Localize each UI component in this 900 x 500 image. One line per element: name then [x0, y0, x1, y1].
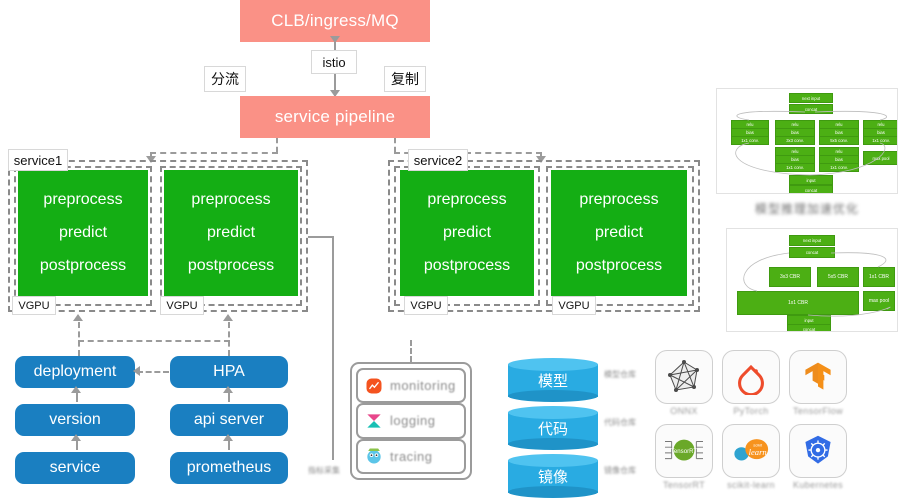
framework-tile-kubernetes[interactable] [789, 424, 847, 478]
vgpu-chip-1-1: VGPU [12, 296, 56, 315]
nn-edges-before [717, 89, 898, 194]
connector-prometheus-apiserver [228, 440, 230, 450]
observability-row-logging[interactable]: logging [356, 403, 466, 438]
arrow-hpa-to-pod [223, 314, 233, 321]
svg-text:scikit: scikit [753, 442, 763, 447]
nn-diagram-after: next input concat 3x3 CBR 5x5 CBR 1x1 CB… [726, 228, 898, 332]
pod-1-1: preprocess predict postprocess [18, 170, 148, 296]
service1-label: service1 [14, 153, 62, 168]
observability-label-logging: logging [390, 413, 435, 428]
hpa-box[interactable]: HPA [170, 356, 288, 388]
observability-label-tracing: tracing [390, 449, 433, 464]
observability-row-tracing[interactable]: tracing [356, 439, 466, 474]
jaeger-icon [364, 446, 384, 466]
framework-label-tensorflow: TensorFlow [789, 406, 847, 416]
connector-service1-right [308, 236, 334, 238]
arrow-hpa-to-deployment [133, 366, 140, 376]
vgpu-label: VGPU [558, 300, 589, 312]
framework-tile-tensorflow[interactable] [789, 350, 847, 404]
svg-text:TensorRT: TensorRT [671, 448, 698, 455]
pod-1-2: preprocess predict postprocess [164, 170, 298, 296]
service2-chip: service2 [408, 149, 468, 171]
split-label: 分流 [211, 69, 239, 89]
prometheus-note: 指标采集 [296, 466, 352, 476]
arrow-deployment-to-service1 [73, 314, 83, 321]
connector-hpa-up [228, 322, 230, 356]
service2-label: service2 [414, 153, 462, 168]
repository-note-model: 模型仓库 [604, 370, 654, 380]
arrow-apiserver-up [223, 386, 233, 393]
repository-cylinder-image: 镜像 [508, 454, 598, 498]
istio-label: istio [322, 55, 345, 70]
version-box[interactable]: version [15, 404, 135, 436]
repository-note-image: 镜像仓库 [604, 466, 654, 476]
repository-note-code: 代码仓库 [604, 418, 654, 428]
service-pipeline-label: service pipeline [275, 107, 395, 127]
pod-2-1: preprocess predict postprocess [400, 170, 534, 296]
framework-tile-onnx[interactable] [655, 350, 713, 404]
pod-2-2: preprocess predict postprocess [551, 170, 687, 296]
framework-label-pytorch: PyTorch [722, 406, 780, 416]
framework-label-tensorrt: TensorRT [655, 480, 713, 490]
connector-pipeline-left-run [150, 152, 278, 154]
api-server-box[interactable]: api server [170, 404, 288, 436]
hpa-label: HPA [213, 363, 245, 381]
vgpu-chip-2-1: VGPU [404, 296, 448, 315]
pod-stage-predict: predict [207, 224, 255, 242]
pod-stage-preprocess: preprocess [43, 191, 122, 209]
grafana-icon [364, 376, 384, 396]
vgpu-label: VGPU [166, 300, 197, 312]
connector-deployment-hpa-rail [78, 340, 230, 342]
pod-stage-postprocess: postprocess [188, 257, 274, 275]
vgpu-chip-1-2: VGPU [160, 296, 204, 315]
arrow-prometheus-up [223, 434, 233, 441]
connector-pipeline-left-stub [276, 138, 278, 152]
vgpu-label: VGPU [18, 300, 49, 312]
observability-panel: monitoring logging [350, 362, 472, 480]
prometheus-label: prometheus [187, 459, 272, 477]
replicate-chip: 复制 [384, 66, 426, 92]
observability-row-monitoring[interactable]: monitoring [356, 368, 466, 403]
service1-chip: service1 [8, 149, 68, 171]
pod-stage-postprocess: postprocess [40, 257, 126, 275]
connector-pipeline-right-stub [394, 138, 396, 152]
arrow-service-up [71, 434, 81, 441]
elastic-icon [364, 411, 384, 431]
onnx-icon [664, 357, 704, 397]
framework-label-scikit-learn: scikit-learn [722, 480, 780, 490]
api-server-label: api server [194, 411, 264, 429]
service-label: service [50, 459, 101, 477]
prometheus-box[interactable]: prometheus [170, 452, 288, 484]
connector-observability-up [410, 340, 412, 362]
kubernetes-icon [800, 433, 836, 469]
architecture-diagram: CLB/ingress/MQ istio 分流 复制 service pipel… [0, 0, 900, 500]
repository-label-code: 代码 [508, 406, 598, 450]
scikit-learn-icon: learn scikit [728, 432, 774, 470]
connector-hpa-deployment [137, 371, 169, 373]
repository-cylinder-model: 模型 [508, 358, 598, 402]
version-label: version [49, 411, 101, 429]
connector-service-version [76, 440, 78, 450]
service-box[interactable]: service [15, 452, 135, 484]
deployment-box[interactable]: deployment [15, 356, 135, 388]
pod-stage-preprocess: preprocess [427, 191, 506, 209]
pytorch-icon [733, 359, 769, 395]
repository-label-image: 镜像 [508, 454, 598, 498]
tensorrt-icon: TensorRT [661, 432, 707, 470]
clb-ingress-mq-label: CLB/ingress/MQ [271, 11, 399, 31]
pod-stage-preprocess: preprocess [579, 191, 658, 209]
tensorflow-icon [800, 359, 836, 395]
framework-tile-scikit-learn[interactable]: learn scikit [722, 424, 780, 478]
framework-label-kubernetes: Kubernetes [789, 480, 847, 490]
framework-label-onnx: ONNX [655, 406, 713, 416]
nn-diagram-before: next input concat relu bias 1x1 conv. re… [716, 88, 898, 194]
repository-cylinder-code: 代码 [508, 406, 598, 450]
vgpu-label: VGPU [410, 300, 441, 312]
pod-stage-predict: predict [595, 224, 643, 242]
service-pipeline-block: service pipeline [240, 96, 430, 138]
repository-label-model: 模型 [508, 358, 598, 402]
arrow-clb-down [330, 36, 340, 43]
nn-edges-after [727, 229, 898, 332]
arrow-version-up [71, 386, 81, 393]
pod-stage-postprocess: postprocess [424, 257, 510, 275]
pod-stage-predict: predict [443, 224, 491, 242]
connector-apiserver-hpa [228, 392, 230, 402]
optimization-caption: 模型推理加速优化 [716, 200, 898, 217]
pod-stage-preprocess: preprocess [191, 191, 270, 209]
deployment-label: deployment [34, 363, 117, 381]
observability-label-monitoring: monitoring [390, 378, 456, 393]
connector-service1-down [332, 236, 334, 460]
istio-chip: istio [311, 50, 357, 74]
split-chip: 分流 [204, 66, 246, 92]
svg-text:learn: learn [749, 447, 767, 457]
connector-version-deployment [76, 392, 78, 402]
pod-stage-predict: predict [59, 224, 107, 242]
replicate-label: 复制 [391, 69, 419, 89]
connector-deployment-up [78, 322, 80, 356]
framework-tile-tensorrt[interactable]: TensorRT [655, 424, 713, 478]
pod-stage-postprocess: postprocess [576, 257, 662, 275]
framework-tile-pytorch[interactable] [722, 350, 780, 404]
vgpu-chip-2-2: VGPU [552, 296, 596, 315]
